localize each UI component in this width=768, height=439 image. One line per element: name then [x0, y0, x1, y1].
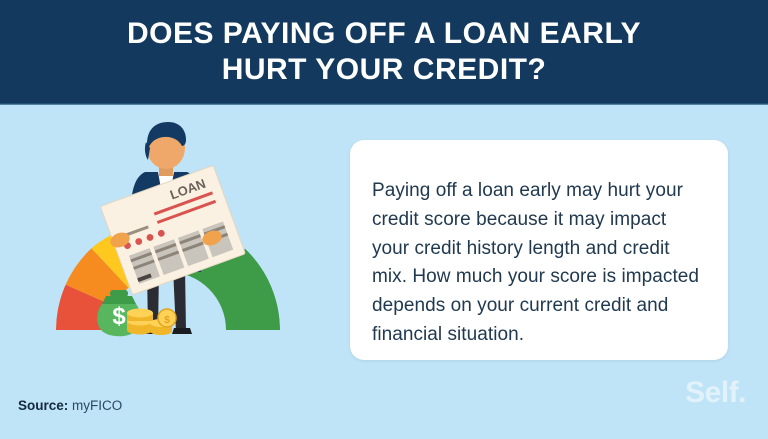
self-logo: Self. — [685, 378, 746, 408]
header-divider — [0, 103, 768, 105]
svg-text:$: $ — [112, 303, 126, 330]
self-logo-dot: . — [738, 376, 746, 409]
source-value: myFICO — [72, 398, 122, 413]
explanation-card: Paying off a loan early may hurt your cr… — [350, 140, 728, 360]
header-title-block: DOES PAYING OFF A LOAN EARLY HURT YOUR C… — [34, 16, 734, 88]
self-logo-text: Self — [685, 376, 738, 409]
svg-text:$: $ — [164, 315, 170, 326]
source-attribution: Source: myFICO — [18, 398, 122, 413]
person-shoe-right — [172, 328, 192, 334]
source-label: Source: — [18, 398, 68, 413]
infographic-root: DOES PAYING OFF A LOAN EARLY HURT YOUR C… — [0, 0, 768, 439]
explanation-text: Paying off a loan early may hurt your cr… — [372, 177, 706, 350]
header-banner: DOES PAYING OFF A LOAN EARLY HURT YOUR C… — [0, 0, 768, 104]
coin-stack: $ — [127, 309, 176, 336]
businessman-figure: $ $ LOAN — [40, 118, 340, 358]
credit-gauge-illustration: $ $ LOAN — [40, 118, 340, 358]
page-title-line-1: DOES PAYING OFF A LOAN EARLY — [34, 16, 734, 52]
loan-document: LOAN — [100, 165, 245, 294]
page-title-line-2: HURT YOUR CREDIT? — [34, 52, 734, 88]
